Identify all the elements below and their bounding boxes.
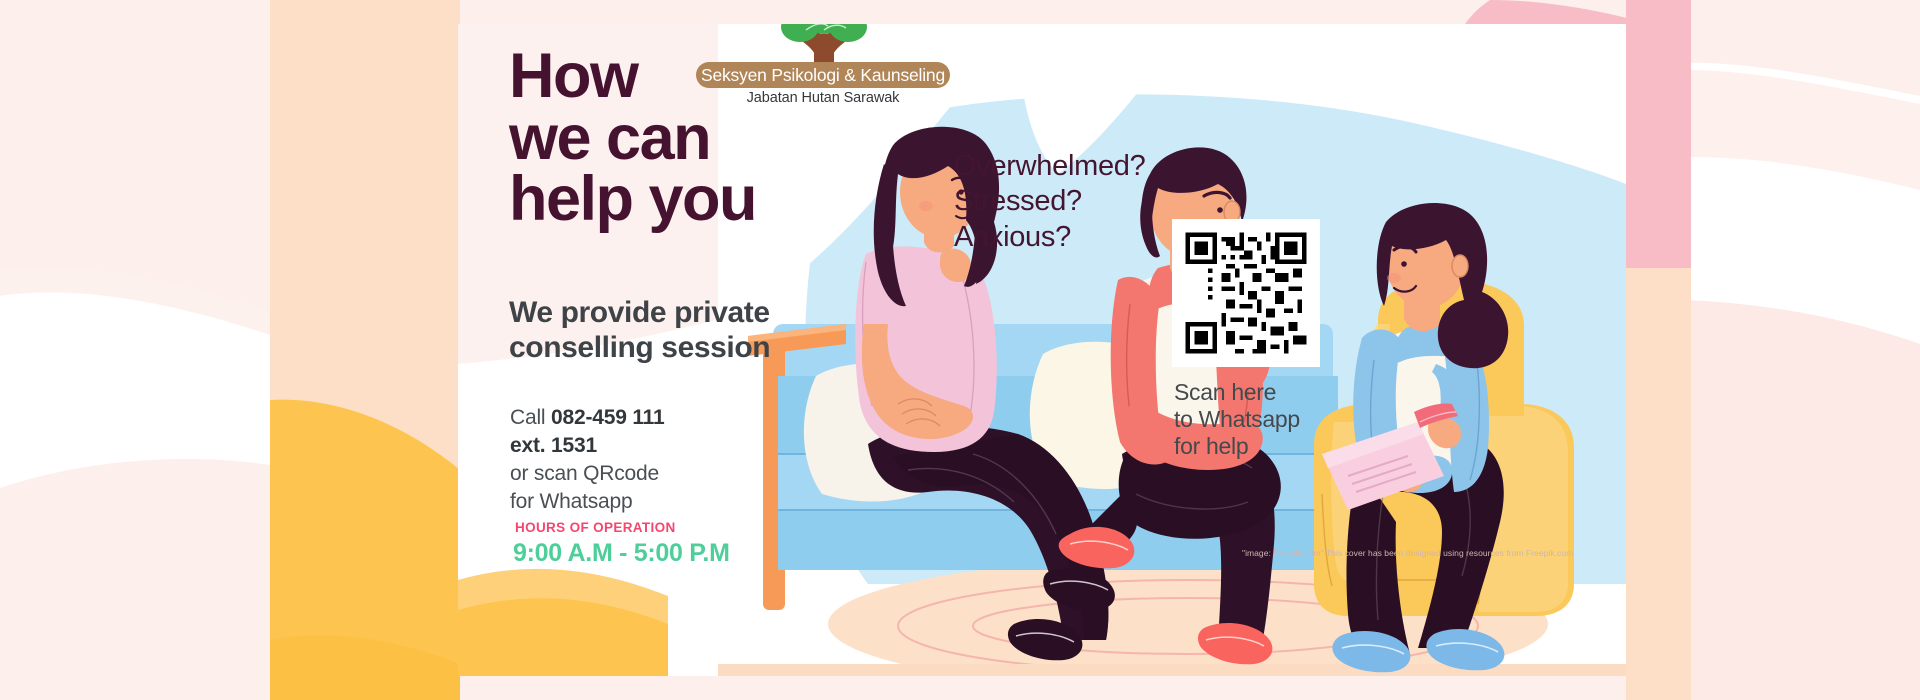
poster-canvas: How we can help you We provide private c…: [0, 0, 1920, 700]
hours-of-operation-label: HOURS OF OPERATION: [515, 520, 676, 535]
scan-instructions: Scan here to Whatsapp for help: [1174, 379, 1334, 460]
subhead-line-2: conselling session: [509, 331, 819, 366]
image-credit: "image: Freepik.com" This cover has been…: [1242, 548, 1573, 558]
qr-code-box[interactable]: [1172, 219, 1320, 367]
whatsapp-hint-line: for Whatsapp: [510, 488, 810, 516]
contact-call-line: Call 082-459 111: [510, 404, 810, 432]
scan-line-1: Scan here: [1174, 379, 1334, 406]
poster-card: How we can help you We provide private c…: [458, 24, 1626, 676]
hours-of-operation-value: 9:00 A.M - 5:00 P.M: [513, 539, 730, 568]
phone-number[interactable]: 082-459 111: [551, 406, 664, 429]
question-stressed: Stressed?: [954, 184, 1145, 219]
scan-line-3: for help: [1174, 433, 1334, 460]
logo-name-pill: Seksyen Psikologi & Kaunseling: [696, 62, 950, 88]
logo-subtitle: Jabatan Hutan Sarawak: [696, 90, 950, 106]
qr-code-icon[interactable]: [1181, 228, 1311, 358]
logo-pill-text: Seksyen Psikologi & Kaunseling: [701, 65, 945, 86]
call-prefix-label: Call: [510, 406, 551, 429]
subheading: We provide private conselling session: [509, 296, 819, 365]
headline-line-3: help you: [509, 169, 839, 231]
qr-panel: Scan here to Whatsapp for help: [1172, 219, 1332, 519]
contact-block: Call 082-459 111 ext. 1531 or scan QRcod…: [510, 404, 810, 516]
scan-line-2: to Whatsapp: [1174, 406, 1334, 433]
subhead-line-1: We provide private: [509, 296, 819, 331]
phone-extension: ext. 1531: [510, 432, 810, 460]
scan-qr-hint-line: or scan QRcode: [510, 460, 810, 488]
organisation-logo: Seksyen Psikologi & Kaunseling Jabatan H…: [696, 24, 1016, 148]
questions-block: Overwhelmed? Stressed? Anxious?: [954, 149, 1145, 255]
question-overwhelmed: Overwhelmed?: [954, 149, 1145, 184]
question-anxious: Anxious?: [954, 220, 1145, 255]
